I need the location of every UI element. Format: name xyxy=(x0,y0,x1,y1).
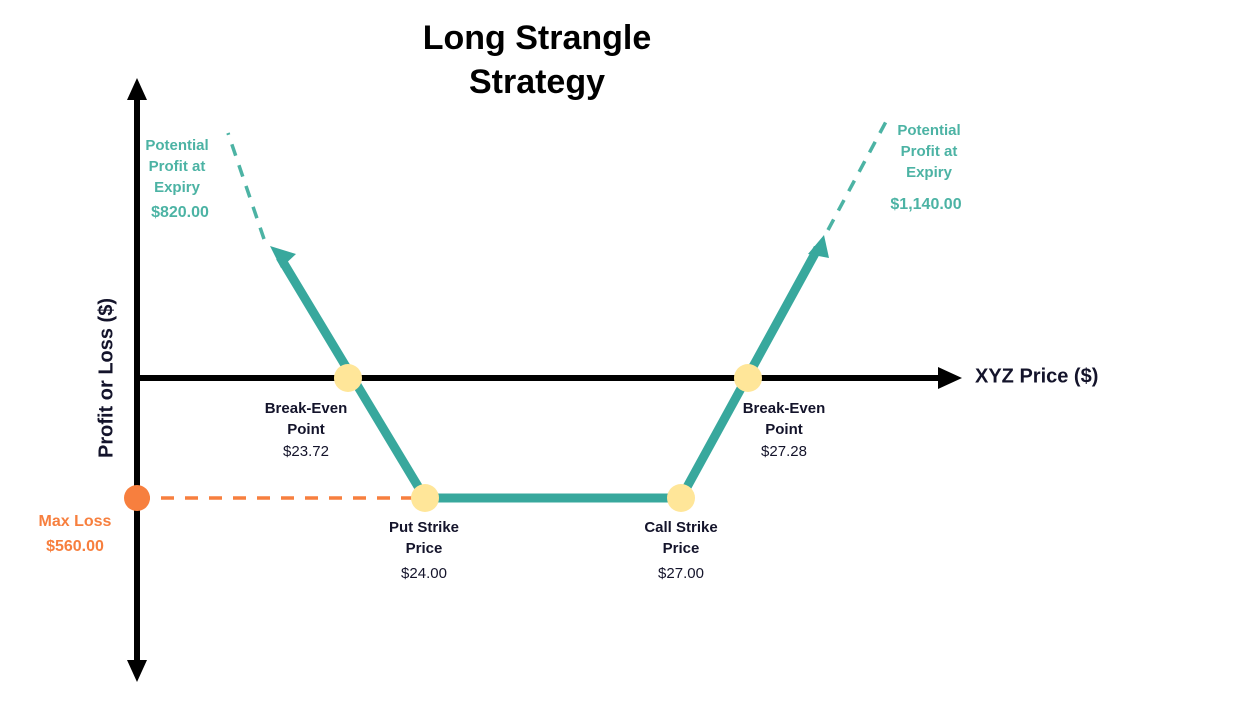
call-strike-marker xyxy=(667,484,695,512)
call-strike-label-line1: Call Strike xyxy=(644,519,717,536)
axes-group xyxy=(127,78,962,682)
upper-breakeven-value: $27.28 xyxy=(761,443,807,460)
put-strike-marker xyxy=(411,484,439,512)
upper-breakeven-marker xyxy=(734,364,762,392)
right-profit-annotation: Potential Profit at Expiry $1,140.00 xyxy=(890,122,961,213)
x-axis-label: XYZ Price ($) xyxy=(975,365,1098,387)
max-loss-marker xyxy=(124,485,150,511)
chart-title-line1: Long Strangle xyxy=(423,19,652,57)
chart-title: Long Strangle Strategy xyxy=(423,19,652,101)
put-strike-value: $24.00 xyxy=(401,565,447,582)
left-profit-line3: Expiry xyxy=(154,179,201,196)
left-profit-annotation: Potential Profit at Expiry $820.00 xyxy=(145,137,209,221)
put-strike-label-line1: Put Strike xyxy=(389,519,459,536)
put-strike-label-line2: Price xyxy=(406,540,443,557)
payoff-right-arrowhead xyxy=(808,235,829,258)
right-profit-line2: Profit at xyxy=(901,143,958,160)
left-profit-line1: Potential xyxy=(145,137,208,154)
y-axis-label: Profit or Loss ($) xyxy=(95,298,117,458)
payoff-left-arrowhead xyxy=(270,246,296,268)
upper-breakeven-annotation: Break-Even Point $27.28 xyxy=(743,400,826,460)
left-profit-line2: Profit at xyxy=(149,158,206,175)
chart-title-line2: Strategy xyxy=(469,63,605,101)
max-loss-value: $560.00 xyxy=(46,538,104,555)
upper-breakeven-label-line2: Point xyxy=(765,421,803,438)
call-strike-label-line2: Price xyxy=(663,540,700,557)
call-strike-annotation: Call Strike Price $27.00 xyxy=(644,519,717,582)
payoff-diagram-svg: Long Strangle Strategy XYZ Price ($) Pro… xyxy=(0,0,1243,703)
lower-breakeven-marker xyxy=(334,364,362,392)
left-profit-value: $820.00 xyxy=(151,204,209,221)
right-profit-line1: Potential xyxy=(897,122,960,139)
lower-breakeven-value: $23.72 xyxy=(283,443,329,460)
y-axis-bottom-arrowhead xyxy=(127,660,147,682)
put-strike-annotation: Put Strike Price $24.00 xyxy=(389,519,459,582)
max-loss-label: Max Loss xyxy=(39,513,112,530)
right-profit-value: $1,140.00 xyxy=(890,196,961,213)
max-loss-group: Max Loss $560.00 xyxy=(39,485,425,555)
lower-breakeven-label-line2: Point xyxy=(287,421,325,438)
payoff-line-group xyxy=(228,116,889,498)
payoff-chart: Long Strangle Strategy XYZ Price ($) Pro… xyxy=(0,0,1243,703)
lower-breakeven-label-line1: Break-Even xyxy=(265,400,348,417)
call-strike-value: $27.00 xyxy=(658,565,704,582)
lower-breakeven-annotation: Break-Even Point $23.72 xyxy=(265,400,348,460)
x-axis-arrowhead xyxy=(938,367,962,389)
upper-breakeven-label-line1: Break-Even xyxy=(743,400,826,417)
y-axis-top-arrowhead xyxy=(127,78,147,100)
payoff-left-dashed-extension xyxy=(228,133,264,239)
node-markers-group xyxy=(334,364,762,512)
right-profit-line3: Expiry xyxy=(906,164,953,181)
payoff-right-dashed-extension xyxy=(828,116,889,230)
